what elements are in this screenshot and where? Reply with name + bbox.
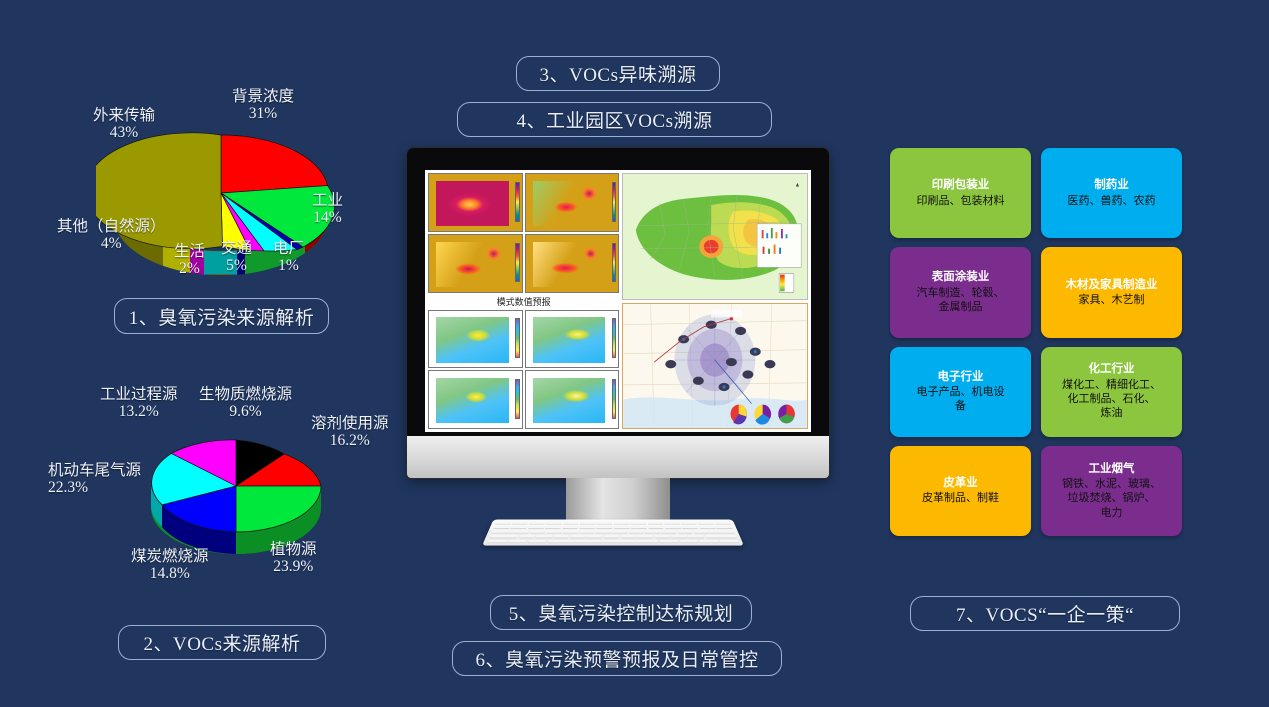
minimap-forecast-c (428, 370, 523, 429)
pie1-label-external-transport: 外来传输 43% (93, 107, 155, 142)
pie2-label-industrial-process: 工业过程源 13.2% (100, 386, 178, 421)
industry-card-grid: 印刷包装业 印刷品、包装材料 制药业 医药、兽药、农药 表面涂装业 汽车制造、轮… (890, 148, 1182, 536)
card-desc: 汽车制造、轮毂、金属制品 (917, 286, 1005, 315)
card-desc: 家具、木艺制 (1079, 293, 1145, 307)
minimap-scenario-2 (428, 234, 523, 293)
card-desc: 钢铁、水泥、玻璃、垃圾焚烧、锅炉、电力 (1062, 477, 1161, 520)
pie2-label-biomass: 生物质燃烧源 9.6% (199, 386, 292, 421)
card-desc: 皮革制品、制鞋 (922, 491, 999, 505)
minimap-scenario-1 (525, 173, 620, 232)
keyboard-keys (487, 522, 738, 543)
minimap-forecast-a (428, 310, 523, 369)
pie2-label-plant: 植物源 23.9% (270, 541, 317, 576)
pie1-label-background: 背景浓度 31% (232, 88, 294, 123)
region-map-svg: ▲ (623, 174, 807, 299)
card-title: 工业烟气 (1089, 462, 1135, 476)
caption-1-ozone-source-analysis[interactable]: 1、臭氧污染来源解析 (114, 298, 329, 334)
caption-6-ozone-warning-forecast-daily-control[interactable]: 6、臭氧污染预警预报及日常管控 (452, 641, 782, 676)
card-title: 制药业 (1094, 178, 1129, 192)
industry-card-chemical[interactable]: 化工行业 煤化工、精细化工、化工制品、石化、炼油 (1041, 347, 1182, 437)
card-title: 印刷包装业 (932, 178, 990, 192)
monitor-chin (407, 436, 829, 478)
pie1-label-powerplant: 电厂 1% (273, 240, 304, 275)
minimap-forecast-d (525, 370, 620, 429)
card-desc: 医药、兽药、农药 (1068, 194, 1156, 208)
industry-card-surface-coating[interactable]: 表面涂装业 汽车制造、轮毂、金属制品 (890, 247, 1031, 337)
city-map-svg (623, 304, 807, 429)
caption-7-vocs-one-enterprise-one-policy[interactable]: 7、VOCS“一企一策“ (910, 596, 1180, 631)
pie1-label-industry: 工业 14% (312, 192, 343, 227)
minimap-grid-bottom (428, 310, 619, 430)
slide-canvas: 背景浓度 31% 工业 14% 电厂 1% 交通 5% 生活 2% 其他（自然源… (0, 0, 1269, 707)
card-title: 木材及家具制造业 (1066, 278, 1158, 292)
minimap-baseline (428, 173, 523, 232)
industry-card-electronics[interactable]: 电子行业 电子产品、机电设备 (890, 347, 1031, 437)
industry-card-printing-packaging[interactable]: 印刷包装业 印刷品、包装材料 (890, 148, 1031, 238)
pie2-label-coal: 煤炭燃烧源 14.8% (131, 548, 209, 583)
screen-panel-model-forecast: 模式数值预报 (428, 173, 619, 429)
card-desc: 印刷品、包装材料 (917, 194, 1005, 208)
regional-concentration-map: ▲ (622, 173, 808, 300)
industry-card-wood-furniture[interactable]: 木材及家具制造业 家具、木艺制 (1041, 247, 1182, 337)
pie1-label-other-natural: 其他（自然源） 4% (57, 218, 166, 253)
monitor-screen[interactable]: 模式数值预报 (425, 170, 811, 432)
pie1-label-traffic: 交通 5% (221, 240, 252, 275)
card-title: 电子行业 (938, 370, 984, 384)
city-source-tracing-map (622, 303, 808, 430)
card-title: 皮革业 (943, 476, 978, 490)
caption-3-vocs-odor-tracing[interactable]: 3、VOCs异味溯源 (516, 56, 720, 91)
minimap-forecast-b (525, 310, 620, 369)
card-desc: 煤化工、精细化工、化工制品、石化、炼油 (1062, 378, 1161, 421)
minimap-scenario-3 (525, 234, 620, 293)
card-title: 表面涂装业 (932, 270, 990, 284)
industry-card-pharmaceutical[interactable]: 制药业 医药、兽药、农药 (1041, 148, 1182, 238)
card-desc: 电子产品、机电设备 (917, 385, 1005, 414)
caption-5-ozone-control-compliance-plan[interactable]: 5、臭氧污染控制达标规划 (490, 595, 752, 630)
pie1-label-living: 生活 2% (174, 243, 205, 278)
screen-panel-title: 模式数值预报 (428, 295, 619, 308)
pie2-label-solvent: 溶剂使用源 16.2% (311, 415, 389, 450)
caption-4-industrial-park-vocs-tracing[interactable]: 4、工业园区VOCs溯源 (457, 102, 772, 137)
pie2-label-vehicle-exhaust: 机动车尾气源 22.3% (48, 462, 141, 497)
caption-2-vocs-source-analysis[interactable]: 2、VOCs来源解析 (118, 625, 326, 660)
desktop-computer: 模式数值预报 (407, 148, 829, 478)
screen-panel-maps: ▲ (622, 173, 808, 429)
keyboard[interactable] (482, 520, 744, 546)
card-title: 化工行业 (1089, 362, 1135, 376)
industry-card-leather[interactable]: 皮革业 皮革制品、制鞋 (890, 446, 1031, 536)
svg-text:▲: ▲ (795, 182, 800, 188)
industry-card-industrial-flue-gas[interactable]: 工业烟气 钢铁、水泥、玻璃、垃圾焚烧、锅炉、电力 (1041, 446, 1182, 536)
minimap-grid-top (428, 173, 619, 293)
